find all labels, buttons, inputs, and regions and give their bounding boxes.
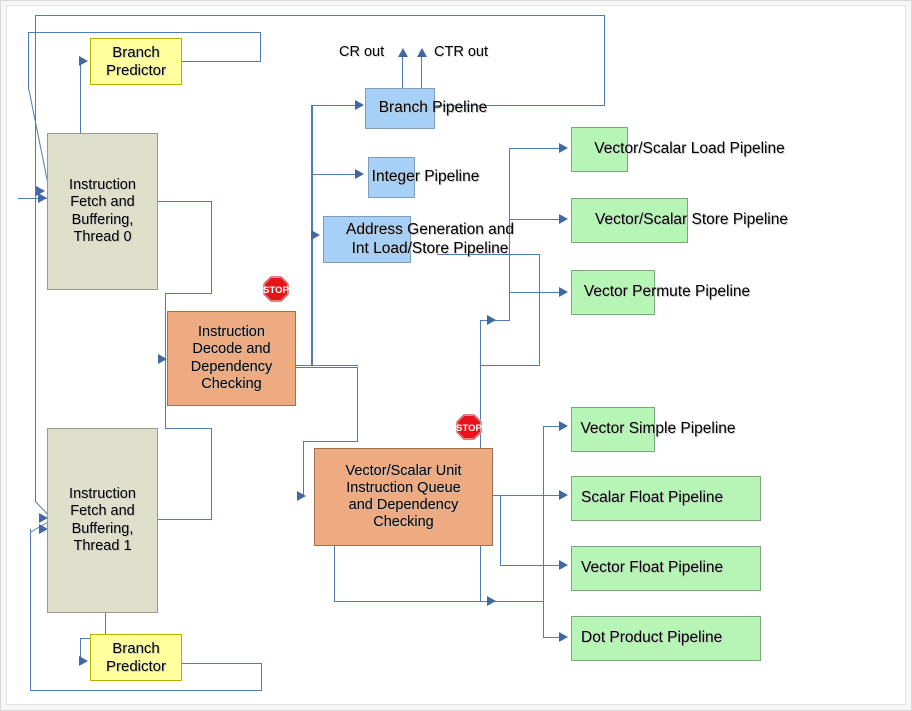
conn-branch-pipeline-feedback-vertical: [604, 15, 605, 106]
conn-thread0-out-to-decode: [165, 293, 212, 294]
node-integer-pipeline[interactable]: Integer Pipeline: [368, 157, 415, 198]
arrow-cr-out: [398, 48, 408, 57]
arrow-ctr-out: [417, 48, 427, 57]
node-branch-predictor-bottom[interactable]: Branch Predictor: [90, 634, 182, 681]
conn-thread1-out-vertical: [211, 428, 212, 520]
arrow-into-scalar-float-pipeline: [559, 490, 568, 500]
arrow-into-upper-green-trunk: [487, 315, 496, 325]
arrow-into-vector-simple-pipeline: [559, 421, 568, 431]
vs-store-pipeline-label: Vector/Scalar Store Pipeline: [595, 211, 788, 229]
node-ifb-thread1[interactable]: Instruction Fetch and Buffering, Thread …: [47, 428, 158, 613]
conn-bp-bottom-out-horizontal: [182, 663, 262, 664]
conn-decode-to-vsu-horizontal-top: [296, 367, 358, 368]
arrow-into-instruction-decode: [158, 354, 167, 364]
conn-bp-top-out-vertical: [260, 32, 261, 62]
arrow-into-thread0-lower: [38, 193, 47, 203]
node-vector-simple-pipeline[interactable]: Vector Simple Pipeline: [571, 407, 655, 452]
conn-thread0-out-horizontal: [158, 201, 212, 202]
conn-bottom-loop-vertical: [30, 529, 31, 691]
arrow-into-branch-predictor-bottom: [79, 656, 88, 666]
conn-thread1-out-horizontal: [158, 519, 212, 520]
stop-sign-vsu-queue: STOP: [456, 414, 482, 440]
node-instruction-decode[interactable]: Instruction Decode and Dependency Checki…: [167, 311, 296, 406]
conn-decode-to-vsu-vertical: [357, 367, 358, 442]
arrow-into-vsu-queue: [297, 491, 306, 501]
conn-trunk-to-branch-pipeline: [311, 105, 359, 106]
svg-text:STOP: STOP: [456, 423, 482, 434]
branch-predictor-bottom-label: Branch Predictor: [106, 640, 166, 675]
integer-pipeline-label: Integer Pipeline: [372, 168, 480, 186]
arrow-into-integer-pipeline: [355, 169, 364, 179]
conn-bp-entry-vertical: [80, 61, 81, 135]
node-branch-pipeline[interactable]: Branch Pipeline: [365, 88, 435, 129]
conn-lower-green-trunk-vertical: [543, 426, 544, 637]
conn-vsu-entry-vertical: [303, 441, 304, 496]
arrow-into-branch-pipeline: [355, 100, 364, 110]
conn-decode-to-vsu-horizontal-bottom: [303, 441, 358, 442]
branch-predictor-top-label: Branch Predictor: [106, 44, 166, 79]
arrow-into-vector-float-pipeline: [559, 560, 568, 570]
conn-decode-out-horizontal: [296, 365, 358, 366]
ifb-thread0-label: Instruction Fetch and Buffering, Thread …: [69, 177, 136, 245]
conn-decode-left-entry-vertical: [165, 293, 166, 359]
scalar-float-pipeline-label: Scalar Float Pipeline: [581, 489, 723, 507]
conn-upper-trunk-to-vs-load: [509, 148, 564, 149]
arrow-into-address-generation-pipeline: [311, 230, 320, 240]
conn-second-rail-left: [28, 32, 29, 90]
node-dot-product-pipeline[interactable]: Dot Product Pipeline: [571, 616, 761, 661]
vector-permute-pipeline-label: Vector Permute Pipeline: [584, 283, 750, 301]
conn-bottom-bp-out-vertical: [261, 663, 262, 691]
address-generation-pipeline-label: Address Generation and Int Load/Store Pi…: [346, 221, 514, 258]
node-branch-predictor-top[interactable]: Branch Predictor: [90, 38, 182, 85]
conn-agen-out-vertical: [539, 254, 540, 366]
conn-trunk-to-integer-pipeline: [311, 174, 359, 175]
arrow-into-vs-load-pipeline: [559, 143, 568, 153]
ifb-thread1-label: Instruction Fetch and Buffering, Thread …: [69, 486, 136, 554]
conn-cr-out-line: [402, 57, 403, 89]
arrow-into-dot-product-pipeline: [559, 632, 568, 642]
conn-upper-trunk-feed-vertical: [480, 320, 481, 365]
conn-vsu-out-right-vertical: [500, 495, 501, 565]
conn-upper-trunk-to-vector-permute: [509, 292, 564, 293]
conn-thread0-out-vertical: [211, 201, 212, 293]
node-address-generation-pipeline[interactable]: Address Generation and Int Load/Store Pi…: [323, 216, 411, 263]
node-vsu-instruction-queue[interactable]: Vector/Scalar Unit Instruction Queue and…: [314, 448, 493, 546]
arrow-into-lower-green-trunk: [487, 596, 496, 606]
vsu-instruction-queue-label: Vector/Scalar Unit Instruction Queue and…: [345, 463, 461, 531]
arrow-into-vs-store-pipeline: [559, 214, 568, 224]
conn-top-outer-rail: [35, 15, 605, 16]
conn-decode-left-entry-vertical-lower: [165, 359, 166, 429]
conn-ctr-out-line: [421, 57, 422, 89]
vs-load-pipeline-label: Vector/Scalar Load Pipeline: [594, 140, 784, 158]
conn-second-rail-top: [28, 32, 260, 33]
node-vector-float-pipeline[interactable]: Vector Float Pipeline: [571, 546, 761, 591]
branch-pipeline-label: Branch Pipeline: [379, 99, 488, 117]
arrow-into-vector-permute-pipeline: [559, 287, 568, 297]
vector-simple-pipeline-label: Vector Simple Pipeline: [580, 420, 735, 438]
conn-vsu-bottom-vertical: [334, 546, 335, 602]
stop-sign-decode: STOP: [263, 276, 289, 302]
node-vs-store-pipeline[interactable]: Vector/Scalar Store Pipeline: [571, 198, 688, 243]
dot-product-pipeline-label: Dot Product Pipeline: [581, 629, 722, 647]
conn-bottom-loop-horizontal: [30, 690, 262, 691]
node-vector-permute-pipeline[interactable]: Vector Permute Pipeline: [571, 270, 655, 315]
conn-lower-trunk-to-vector-float: [500, 565, 564, 566]
diagram-canvas: Branch Predictor Instruction Fetch and B…: [0, 0, 912, 711]
instruction-decode-label: Instruction Decode and Dependency Checki…: [191, 324, 272, 392]
conn-bp-top-out-horizontal: [182, 61, 261, 62]
node-vs-load-pipeline[interactable]: Vector/Scalar Load Pipeline: [571, 127, 628, 172]
conn-lower-trunk-to-scalar-float: [500, 495, 564, 496]
node-scalar-float-pipeline[interactable]: Scalar Float Pipeline: [571, 476, 761, 521]
node-ifb-thread0[interactable]: Instruction Fetch and Buffering, Thread …: [47, 133, 158, 290]
conn-upper-trunk-feed-from-agen: [480, 365, 540, 366]
vector-float-pipeline-label: Vector Float Pipeline: [581, 559, 723, 577]
label-cr-out: CR out: [339, 44, 384, 60]
label-ctr-out: CTR out: [434, 44, 488, 60]
conn-vsu-bottom-horizontal: [334, 601, 544, 602]
conn-thread1-out-to-decode: [165, 428, 212, 429]
arrow-into-branch-predictor-top: [79, 56, 88, 66]
conn-upper-trunk-to-vs-store: [509, 219, 564, 220]
svg-text:STOP: STOP: [263, 285, 289, 296]
